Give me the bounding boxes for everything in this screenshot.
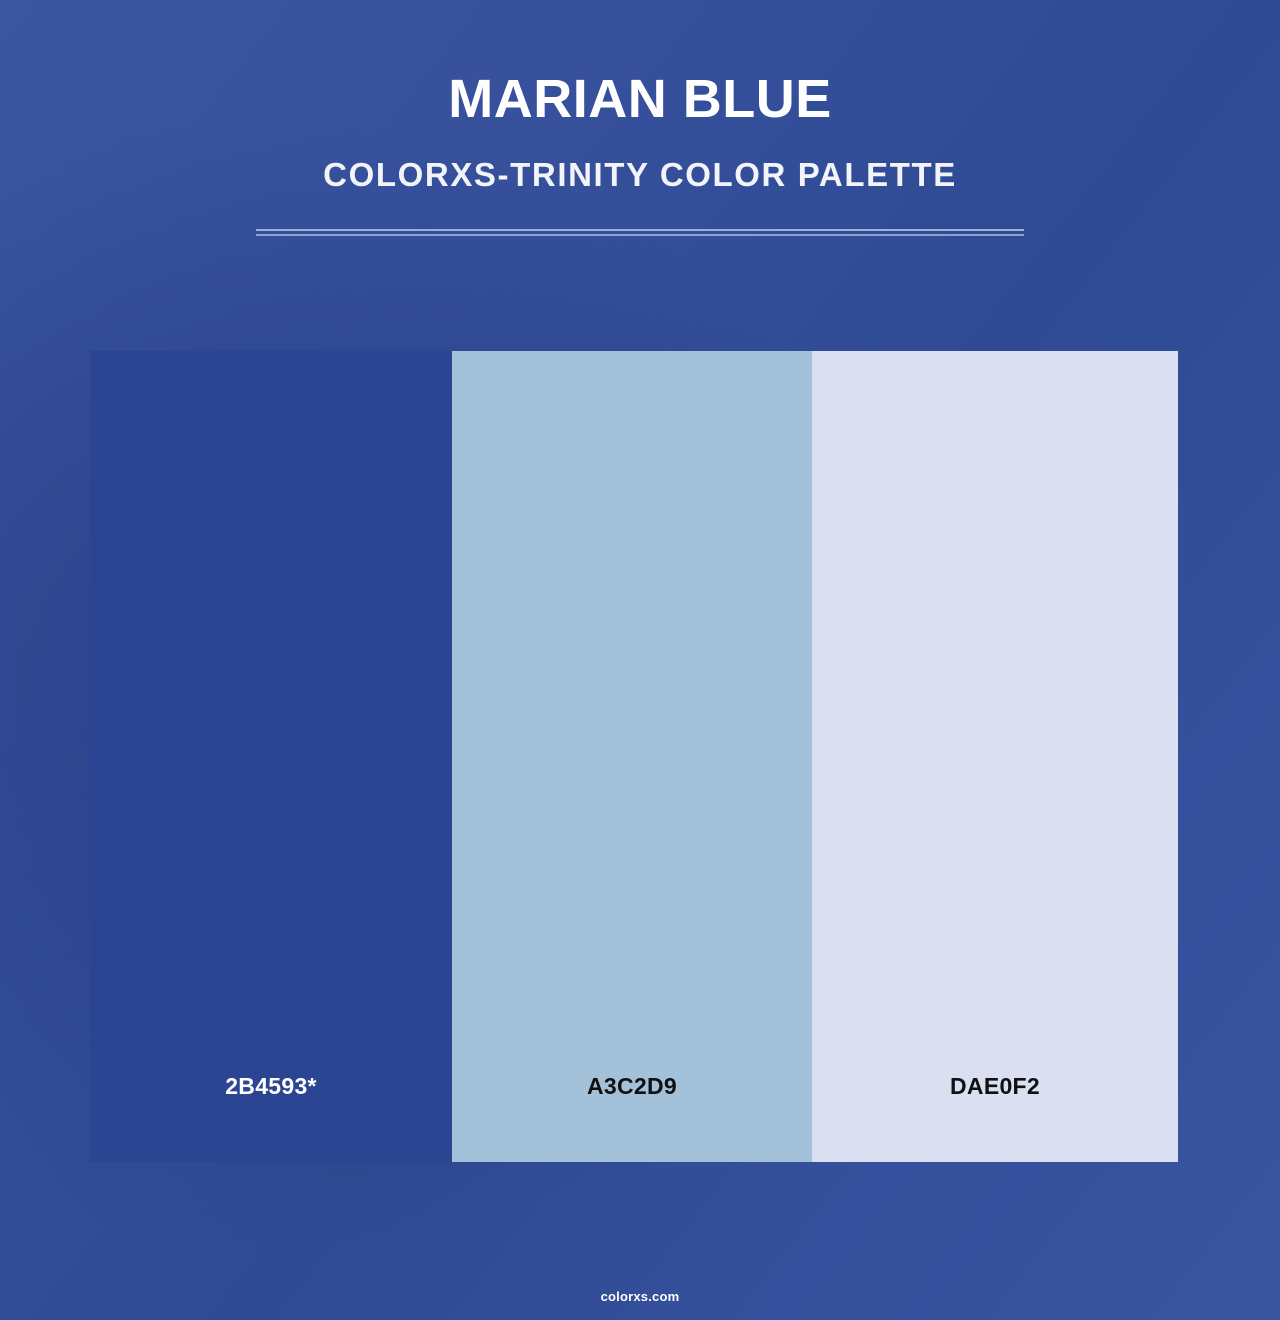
page-subtitle: COLORXS-TRINITY COLOR PALETTE — [0, 158, 1280, 191]
color-swatch-1[interactable] — [90, 351, 452, 1011]
title-divider — [256, 229, 1024, 237]
swatch-label-cell-1: 2B4593* — [90, 1011, 452, 1162]
swatch-label-cell-2: A3C2D9 — [452, 1011, 812, 1162]
color-swatch-3[interactable] — [812, 351, 1178, 1011]
page-footer: colorxs.com — [0, 1288, 1280, 1306]
color-swatch-grid: 2B4593* A3C2D9 DAE0F2 — [90, 351, 1178, 1162]
swatch-column-3[interactable]: DAE0F2 — [812, 351, 1178, 1162]
swatch-column-1[interactable]: 2B4593* — [90, 351, 452, 1162]
footer-site-label: colorxs.com — [601, 1289, 680, 1304]
divider-rule-top — [256, 229, 1024, 231]
swatch-hex-label-2: A3C2D9 — [587, 1075, 677, 1098]
swatch-column-2[interactable]: A3C2D9 — [452, 351, 812, 1162]
page-title: MARIAN BLUE — [0, 72, 1280, 126]
divider-rule-bottom — [256, 234, 1024, 236]
swatch-label-cell-3: DAE0F2 — [812, 1011, 1178, 1162]
swatch-hex-label-3: DAE0F2 — [950, 1075, 1040, 1098]
palette-header: MARIAN BLUE COLORXS-TRINITY COLOR PALETT… — [0, 0, 1280, 191]
color-swatch-2[interactable] — [452, 351, 812, 1011]
swatch-hex-label-1: 2B4593* — [225, 1075, 317, 1098]
